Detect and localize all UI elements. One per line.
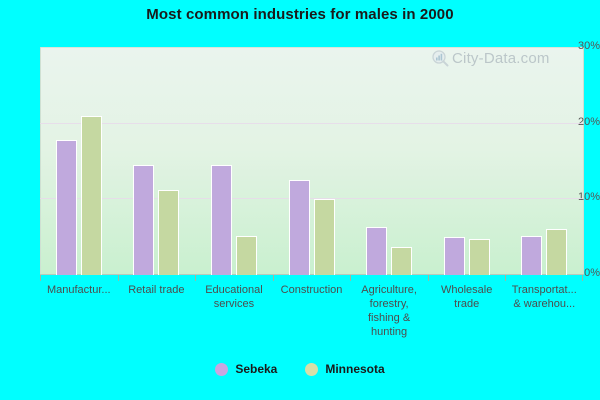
y-axis <box>0 0 36 400</box>
bar-minnesota[interactable] <box>314 199 335 275</box>
x-axis-tick <box>40 275 118 281</box>
bar-minnesota[interactable] <box>236 236 257 275</box>
bar-group <box>118 47 196 275</box>
legend-swatch-icon <box>305 363 318 376</box>
bar-group <box>505 47 583 275</box>
x-axis-tick-label: Retail trade <box>118 283 196 339</box>
x-axis-tick <box>195 275 273 281</box>
bar-sebeka[interactable] <box>289 180 310 275</box>
bar-minnesota[interactable] <box>546 229 567 275</box>
legend-item-minnesota[interactable]: Minnesota <box>305 362 384 376</box>
bar-group <box>350 47 428 275</box>
bar-sebeka[interactable] <box>521 236 542 275</box>
legend-label: Sebeka <box>235 362 277 376</box>
bar-sebeka[interactable] <box>444 237 465 275</box>
bar-sebeka[interactable] <box>366 227 387 275</box>
bar-groups <box>40 47 583 275</box>
bar-minnesota[interactable] <box>158 190 179 275</box>
bar-sebeka[interactable] <box>56 140 77 275</box>
x-axis-tick <box>428 275 506 281</box>
bar-group <box>40 47 118 275</box>
chart-container: Most common industries for males in 2000… <box>0 0 600 400</box>
x-axis-labels: Manufactur...Retail tradeEducational ser… <box>40 283 583 339</box>
bar-sebeka[interactable] <box>133 165 154 275</box>
x-axis-tick <box>350 275 428 281</box>
bar-group <box>195 47 273 275</box>
x-axis-tick-label: Transportat... & warehou... <box>505 283 583 339</box>
x-axis-tick-label: Manufactur... <box>40 283 118 339</box>
bar-sebeka[interactable] <box>211 165 232 275</box>
bar-minnesota[interactable] <box>391 247 412 275</box>
bar-group <box>428 47 506 275</box>
x-axis-tick-label: Agriculture, forestry, fishing & hunting <box>350 283 428 339</box>
legend-item-sebeka[interactable]: Sebeka <box>215 362 277 376</box>
x-axis-tick <box>273 275 351 281</box>
x-axis-tick <box>118 275 196 281</box>
chart-title: Most common industries for males in 2000 <box>0 6 600 23</box>
x-axis-tick <box>505 275 583 281</box>
x-axis-tick-label: Educational services <box>195 283 273 339</box>
legend-swatch-icon <box>215 363 228 376</box>
chart-legend: SebekaMinnesota <box>0 362 600 376</box>
legend-label: Minnesota <box>325 362 384 376</box>
x-axis-tick-label: Wholesale trade <box>428 283 506 339</box>
bar-minnesota[interactable] <box>469 239 490 275</box>
bar-group <box>273 47 351 275</box>
plot-border-right <box>583 47 584 275</box>
x-axis-tick-label: Construction <box>273 283 351 339</box>
x-axis-ticks <box>40 275 583 281</box>
bar-minnesota[interactable] <box>81 116 102 275</box>
